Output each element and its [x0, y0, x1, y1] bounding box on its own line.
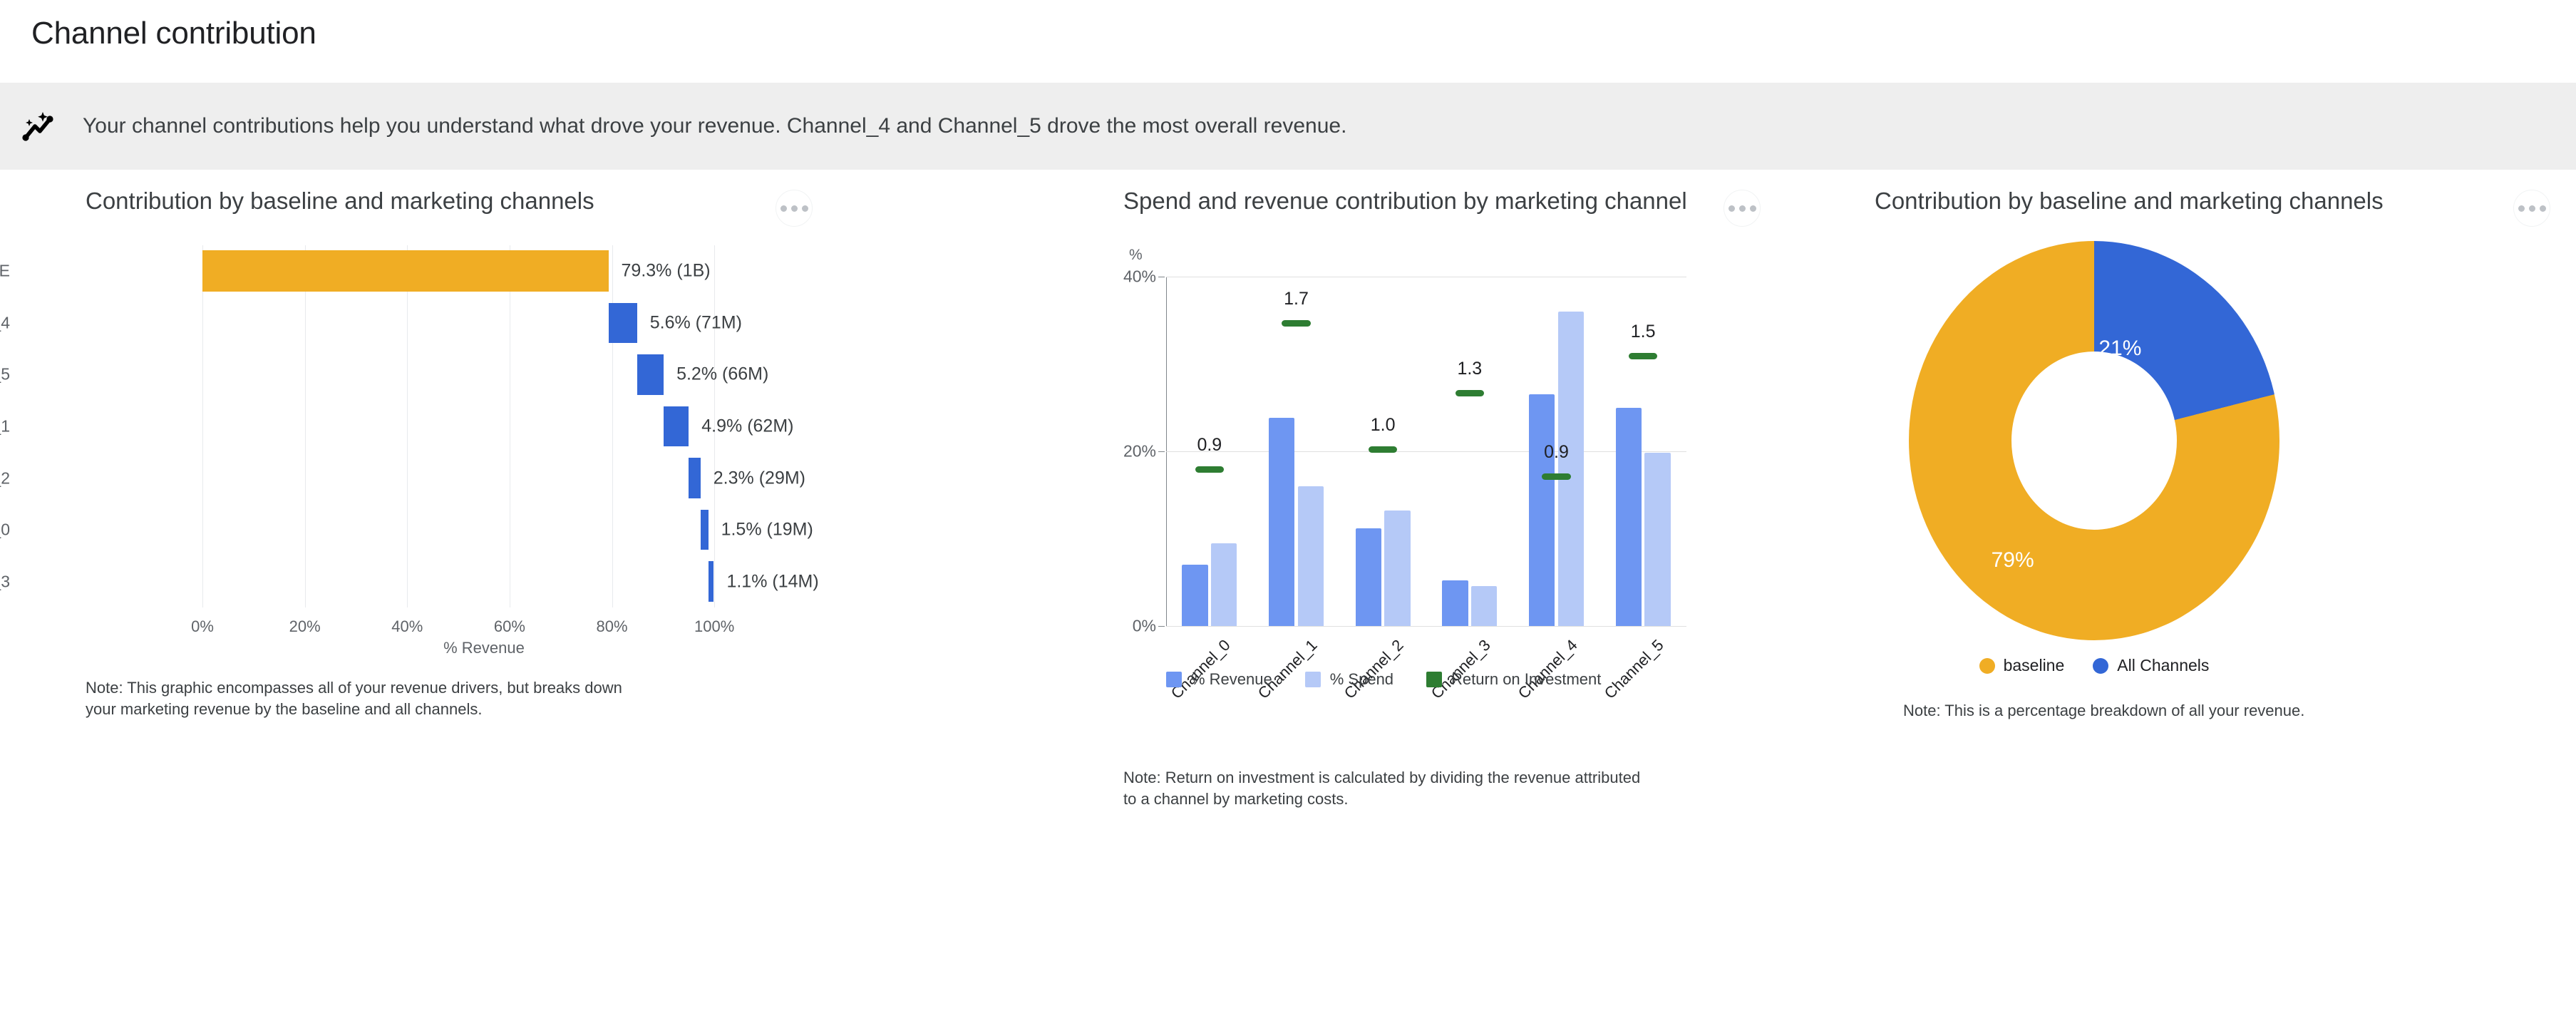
grouped-bar-revenue[interactable]	[1356, 528, 1382, 626]
grouped-plot-area: 0%20%40%0.9Channel_01.7Channel_11.0Chann…	[1166, 277, 1686, 626]
waterfall-gridline	[612, 245, 613, 607]
waterfall-value-label: 2.3% (29M)	[713, 468, 805, 488]
donut-legend-label: All Channels	[2117, 656, 2209, 675]
kebab-dot	[802, 205, 808, 212]
donut-legend-label: baseline	[2004, 656, 2065, 675]
grouped-roi-marker[interactable]	[1629, 353, 1657, 359]
waterfall-category-label: CHANNEL_3	[0, 572, 10, 591]
card-grouped-note: Note: Return on investment is calculated…	[1123, 767, 1651, 811]
kebab-dot	[2518, 205, 2525, 212]
card-grouped-kebab-menu-icon[interactable]	[1724, 190, 1761, 227]
grouped-unit-label: %	[1129, 247, 1143, 264]
grouped-x-label: Channel_0	[1168, 636, 1235, 703]
grouped-roi-marker[interactable]	[1369, 446, 1397, 453]
grouped-bar-revenue[interactable]	[1182, 565, 1208, 626]
waterfall-x-tick: 100%	[694, 617, 734, 636]
donut-chart: 21% 79% baselineAll Channels	[1875, 237, 2488, 707]
waterfall-x-tick: 40%	[391, 617, 423, 636]
waterfall-bar[interactable]	[709, 561, 714, 602]
waterfall-bar[interactable]	[664, 406, 689, 447]
insight-banner: Your channel contributions help you unde…	[0, 83, 2576, 170]
kebab-dot	[1739, 205, 1746, 212]
grouped-legend-item[interactable]: % Spend	[1305, 670, 1393, 689]
waterfall-value-label: 5.2% (66M)	[676, 364, 768, 385]
grouped-legend-swatch	[1166, 672, 1182, 687]
grouped-bar-spend[interactable]	[1644, 453, 1671, 626]
card-waterfall-header: Contribution by baseline and marketing c…	[86, 188, 1112, 227]
donut-legend-dot	[2093, 658, 2108, 674]
donut-ring[interactable]: 21% 79%	[1909, 241, 2279, 640]
grouped-bar-spend[interactable]	[1298, 486, 1324, 626]
grouped-roi-label: 0.9	[1197, 435, 1222, 456]
grouped-bar-revenue[interactable]	[1616, 408, 1642, 626]
charts-row: Contribution by baseline and marketing c…	[0, 170, 2576, 982]
grouped-x-label: Channel_2	[1341, 636, 1408, 703]
grouped-roi-marker[interactable]	[1282, 320, 1310, 327]
grouped-bar-revenue[interactable]	[1269, 418, 1295, 626]
auto-insights-icon	[19, 106, 58, 146]
card-grouped-title: Spend and revenue contribution by market…	[1123, 188, 1687, 214]
grouped-x-label: Channel_4	[1514, 636, 1581, 703]
waterfall-bar[interactable]	[701, 510, 709, 550]
grouped-y-tick: 20%	[1123, 442, 1156, 461]
card-donut: Contribution by baseline and marketing c…	[1867, 170, 2576, 982]
grouped-bar-revenue[interactable]	[1442, 580, 1468, 626]
grouped-y-tickmark	[1158, 277, 1165, 277]
grouped-bar-chart: % 0%20%40%0.9Channel_01.7Channel_11.0Cha…	[1123, 242, 1708, 699]
kebab-dot	[791, 205, 798, 212]
donut-legend: baselineAll Channels	[1909, 656, 2279, 675]
grouped-bar-spend[interactable]	[1211, 543, 1237, 626]
grouped-legend-swatch	[1305, 672, 1321, 687]
grouped-roi-label: 1.7	[1284, 289, 1309, 309]
grouped-gridline	[1166, 626, 1686, 627]
waterfall-plot-area: 0%20%40%60%80%100%BASELINE79.3% (1B)CHAN…	[202, 245, 766, 607]
grouped-bar-spend[interactable]	[1471, 586, 1498, 626]
grouped-y-tickmark	[1158, 626, 1165, 627]
card-grouped-bars: Spend and revenue contribution by market…	[1112, 170, 1867, 982]
waterfall-bar[interactable]	[202, 250, 609, 292]
donut-center-hole	[2011, 352, 2177, 530]
waterfall-x-tick: 20%	[289, 617, 321, 636]
grouped-bar-revenue[interactable]	[1529, 394, 1555, 626]
card-donut-kebab-menu-icon[interactable]	[2513, 190, 2550, 227]
kebab-dot	[2540, 205, 2546, 212]
page-title: Channel contribution	[0, 0, 2576, 51]
grouped-roi-label: 1.0	[1371, 415, 1396, 436]
waterfall-value-label: 4.9% (62M)	[701, 416, 793, 437]
waterfall-value-label: 79.3% (1B)	[622, 261, 711, 282]
waterfall-gridline	[407, 245, 408, 607]
grouped-y-tick: 0%	[1133, 617, 1156, 636]
grouped-legend-label: % Revenue	[1191, 670, 1272, 689]
donut-slice-label-channels: 21%	[2098, 337, 2141, 361]
grouped-bar-spend[interactable]	[1558, 312, 1585, 626]
kebab-dot	[1750, 205, 1756, 212]
grouped-legend-item[interactable]: % Revenue	[1166, 670, 1272, 689]
card-waterfall: Contribution by baseline and marketing c…	[0, 170, 1112, 982]
grouped-legend-item[interactable]: Return on Investment	[1426, 670, 1601, 689]
card-donut-title: Contribution by baseline and marketing c…	[1875, 188, 2384, 214]
grouped-roi-label: 0.9	[1544, 442, 1569, 463]
waterfall-value-label: 1.5% (19M)	[721, 520, 813, 540]
card-waterfall-kebab-menu-icon[interactable]	[776, 190, 813, 227]
waterfall-bar[interactable]	[637, 354, 664, 395]
kebab-dot	[1729, 205, 1735, 212]
waterfall-category-label: CHANNEL_0	[0, 520, 10, 540]
card-grouped-header: Spend and revenue contribution by market…	[1123, 188, 1867, 227]
grouped-roi-marker[interactable]	[1195, 466, 1224, 473]
grouped-x-label: Channel_5	[1601, 636, 1668, 703]
card-waterfall-title: Contribution by baseline and marketing c…	[86, 188, 594, 214]
waterfall-gridline	[202, 245, 203, 607]
waterfall-gridline	[305, 245, 306, 607]
waterfall-category-label: CHANNEL_2	[0, 468, 10, 488]
grouped-gridline	[1166, 277, 1686, 277]
grouped-legend: % Revenue% SpendReturn on Investment	[1166, 670, 1601, 689]
grouped-y-tick: 40%	[1123, 267, 1156, 287]
insight-text: Your channel contributions help you unde…	[83, 114, 1346, 138]
grouped-legend-swatch	[1426, 672, 1442, 687]
waterfall-chart: 0%20%40%60%80%100%BASELINE79.3% (1B)CHAN…	[86, 245, 841, 645]
grouped-x-label: Channel_3	[1428, 636, 1495, 703]
grouped-roi-marker[interactable]	[1542, 473, 1570, 480]
waterfall-value-label: 1.1% (14M)	[726, 571, 818, 592]
waterfall-bar[interactable]	[689, 458, 701, 498]
waterfall-x-tick: 80%	[597, 617, 628, 636]
donut-slice-label-baseline: 79%	[1992, 548, 2034, 573]
grouped-gridline	[1166, 451, 1686, 452]
grouped-bar-spend[interactable]	[1384, 510, 1411, 626]
grouped-roi-label: 1.5	[1631, 322, 1656, 342]
kebab-dot	[780, 205, 787, 212]
waterfall-x-tick: 0%	[191, 617, 214, 636]
waterfall-category-label: CHANNEL_5	[0, 365, 10, 384]
kebab-dot	[2529, 205, 2535, 212]
waterfall-category-label: CHANNEL_1	[0, 417, 10, 436]
grouped-roi-label: 1.3	[1457, 359, 1482, 379]
card-waterfall-note: Note: This graphic encompasses all of yo…	[86, 677, 627, 721]
waterfall-category-label: CHANNEL_4	[0, 313, 10, 332]
grouped-x-label: Channel_1	[1254, 636, 1321, 703]
waterfall-x-tick: 60%	[494, 617, 525, 636]
donut-legend-item[interactable]: All Channels	[2093, 656, 2209, 675]
grouped-y-tickmark	[1158, 451, 1165, 452]
waterfall-gridline	[510, 245, 510, 607]
waterfall-x-axis-title: % Revenue	[202, 639, 766, 657]
donut-legend-dot	[1979, 658, 1995, 674]
grouped-legend-label: % Spend	[1330, 670, 1393, 689]
waterfall-bar[interactable]	[609, 303, 637, 344]
donut-legend-item[interactable]: baseline	[1979, 656, 2065, 675]
grouped-legend-label: Return on Investment	[1451, 670, 1601, 689]
card-donut-header: Contribution by baseline and marketing c…	[1875, 188, 2576, 227]
waterfall-category-label: BASELINE	[0, 262, 10, 281]
waterfall-value-label: 5.6% (71M)	[650, 312, 742, 333]
grouped-roi-marker[interactable]	[1456, 390, 1484, 396]
